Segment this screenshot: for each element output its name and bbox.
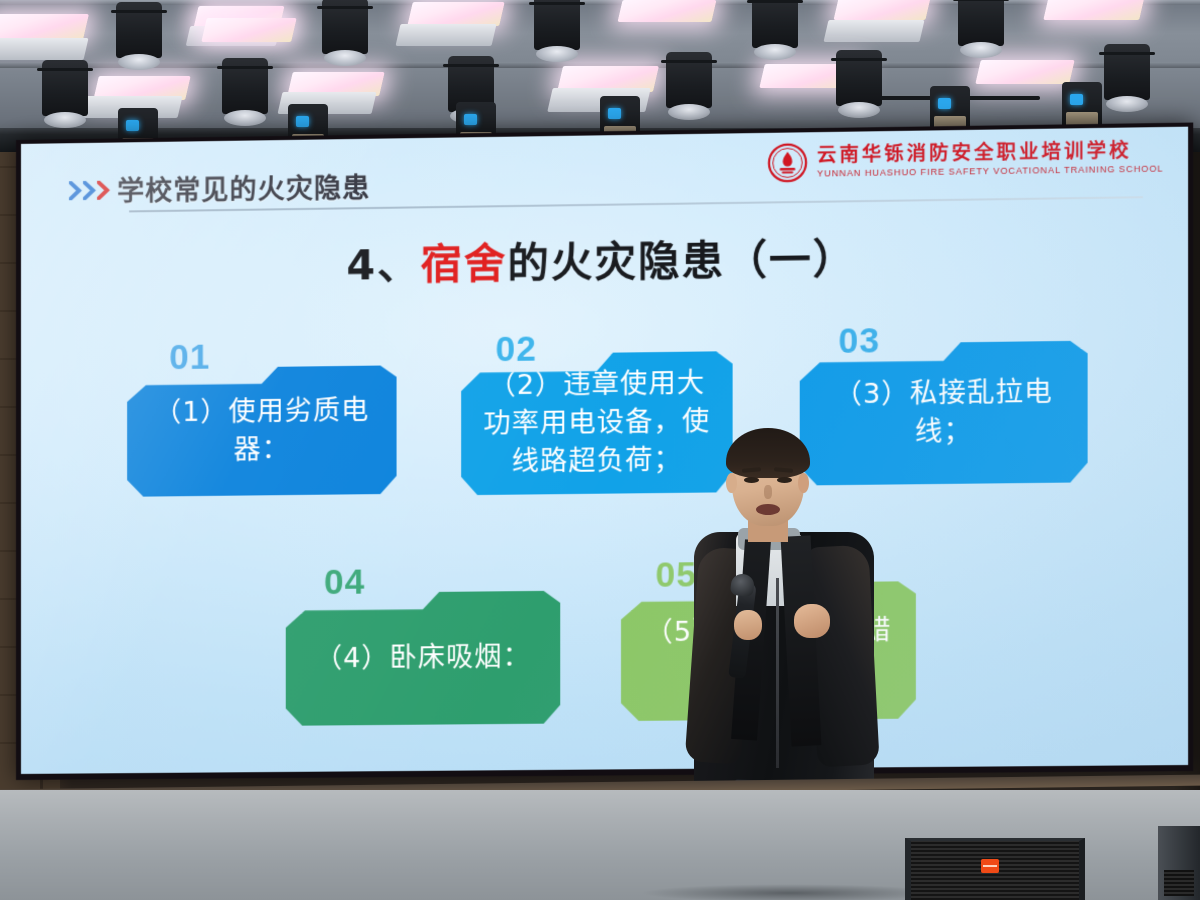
stage-panel-light <box>617 0 716 22</box>
slide-title-prefix: 4、 <box>346 240 420 289</box>
slide-section-kicker: 学校常见的火灾隐患 <box>117 166 370 209</box>
stage-light-fixture <box>534 0 580 50</box>
circular-seal-flame-icon <box>767 142 808 183</box>
stage-monitor-speaker <box>905 838 1085 900</box>
card-number-02: 02 <box>495 329 536 370</box>
presenter-nose <box>764 485 772 499</box>
screenshot-root: 学校常见的火灾隐患 云南华铄消防安全职业培训学校 YUNNAN HUASHUO … <box>0 0 1200 900</box>
stage-light-fixture <box>116 2 162 58</box>
stage-panel-light <box>201 18 297 42</box>
stage-light-fixture <box>42 60 88 116</box>
projection-screen-frame: 学校常见的火灾隐患 云南华铄消防安全职业培训学校 YUNNAN HUASHUO … <box>16 123 1193 780</box>
school-name-cn: 云南华铄消防安全职业培训学校 <box>817 141 1163 165</box>
chevron-right-icon <box>83 181 96 200</box>
slide-title-suffix: 的火灾隐患（一） <box>507 235 856 288</box>
stage-panel-shade <box>823 20 924 42</box>
presenter-ear-left <box>726 473 737 493</box>
stage-panel-light <box>975 60 1075 84</box>
hazard-card-02-text: （2）违章使用大功率用电设备，使线路超负荷； <box>477 364 716 483</box>
truss-beam <box>0 0 1200 5</box>
light-status-led <box>938 98 951 109</box>
card-number-04: 04 <box>324 562 365 603</box>
presenter-floor-shadow <box>640 884 940 900</box>
slide-title: 4、宿舍的火灾隐患（一） <box>21 220 1188 296</box>
presentation-slide: 学校常见的火灾隐患 云南华铄消防安全职业培训学校 YUNNAN HUASHUO … <box>21 127 1188 774</box>
stage-panel-light <box>833 0 930 20</box>
presenter-gesturing-hand <box>794 604 830 638</box>
light-status-led <box>296 116 309 127</box>
hazard-card-01[interactable]: （1）使用劣质电器： <box>127 365 396 496</box>
stage-light-fixture <box>752 0 798 48</box>
light-status-led <box>1070 94 1083 105</box>
stage-panel-light <box>1043 0 1145 20</box>
light-status-led <box>126 120 139 131</box>
stage-panel-shade <box>0 38 89 60</box>
stage-panel-light <box>0 14 89 40</box>
hazard-card-04[interactable]: （4）卧床吸烟： <box>286 591 560 726</box>
chevron-arrows <box>69 181 110 201</box>
presenter-eye-right <box>777 477 792 483</box>
stage-light-fixture <box>1104 44 1150 100</box>
stage-light-fixture <box>958 0 1004 46</box>
presenter-hair <box>726 428 810 478</box>
stage-equipment-box <box>1158 826 1200 900</box>
light-status-led <box>464 114 477 125</box>
speaker-brand-badge-icon <box>981 859 999 873</box>
presenter-eye-left <box>744 477 759 483</box>
stage-light-fixture <box>666 52 712 108</box>
chevron-right-icon <box>97 181 110 200</box>
slide-title-highlight: 宿舍 <box>421 239 508 288</box>
stage-light-fixture <box>222 58 268 114</box>
card-number-01: 01 <box>169 338 210 379</box>
presenter-ear-right <box>798 473 809 493</box>
chevron-right-icon <box>69 181 82 200</box>
stage-light-fixture <box>836 50 882 106</box>
school-brand-lockup: 云南华铄消防安全职业培训学校 YUNNAN HUASHUO FIRE SAFET… <box>767 137 1163 183</box>
hazard-card-01-text: （1）使用劣质电器： <box>143 391 380 471</box>
school-name-en: YUNNAN HUASHUO FIRE SAFETY VOCATIONAL TR… <box>817 165 1163 179</box>
presenter-hand-holding-mic <box>734 610 762 640</box>
hazard-card-04-text: （4）卧床吸烟： <box>315 638 531 678</box>
school-brand-text: 云南华铄消防安全职业培训学校 YUNNAN HUASHUO FIRE SAFET… <box>817 141 1163 178</box>
card-number-03: 03 <box>838 321 880 362</box>
light-status-led <box>608 108 621 119</box>
presenter-jacket-zipper <box>776 578 779 768</box>
stage-panel-light <box>407 2 505 26</box>
stage-panel-shade <box>395 24 496 46</box>
stage-light-fixture <box>322 0 368 54</box>
presenter-mouth <box>756 504 780 515</box>
